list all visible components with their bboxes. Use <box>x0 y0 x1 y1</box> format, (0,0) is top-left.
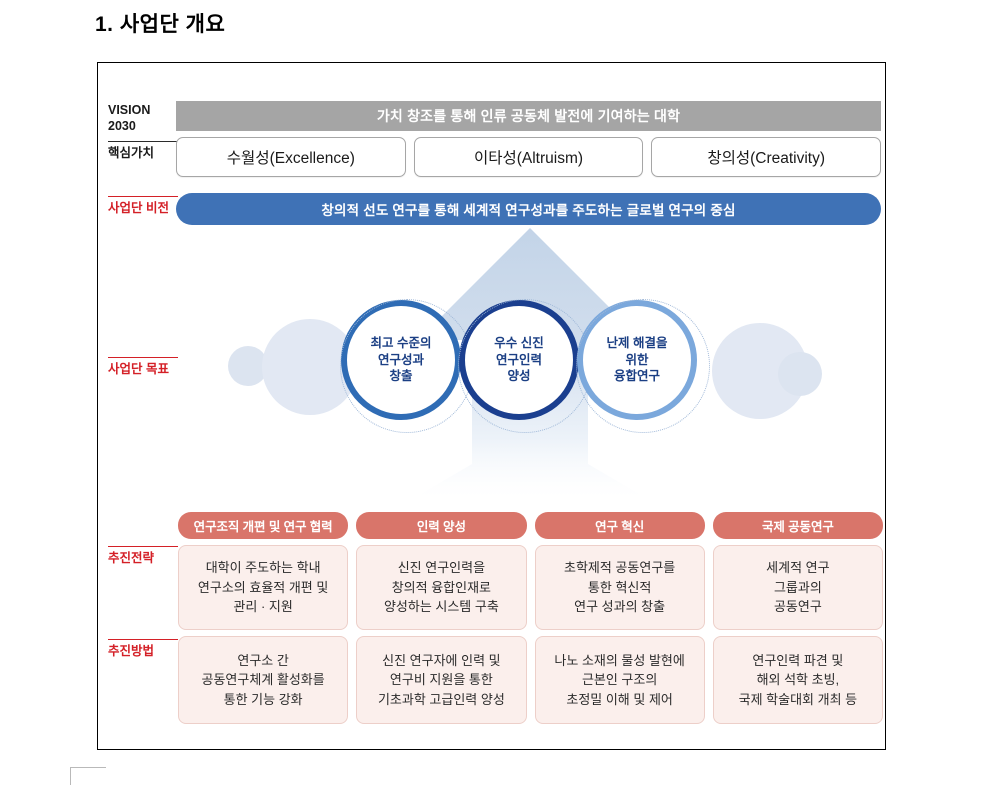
strategy-cell-2-line2: 창의적 융합인재로 <box>392 580 491 595</box>
strategy-header-1: 연구조직 개편 및 연구 협력 <box>178 512 348 539</box>
project-goals-stage: 최고 수준의 연구성과 창출 우수 신진 연구인력 양성 난제 해결을 위한 융… <box>176 226 881 504</box>
core-value-box-3: 창의성(Creativity) <box>651 137 881 177</box>
vision-2030-bar: 가치 창조를 통해 인류 공동체 발전에 기여하는 대학 <box>176 101 881 131</box>
method-cell-1-line2: 공동연구체계 활성화를 <box>202 672 325 687</box>
page-corner-mark <box>70 767 106 785</box>
method-cell-4: 연구인력 파견 및 해외 석학 초빙, 국제 학술대회 개최 등 <box>713 636 883 724</box>
method-cell-2-line3: 기초과학 고급인력 양성 <box>378 692 505 707</box>
label-method: 추진방법 <box>108 639 178 660</box>
strategy-cell-2: 신진 연구인력을 창의적 융합인재로 양성하는 시스템 구축 <box>356 545 526 630</box>
label-vision-2030: VISION 2030 <box>108 103 178 134</box>
goal-2-line3: 양성 <box>507 369 530 383</box>
goal-3-line2: 위한 <box>625 353 648 367</box>
decor-circle-left-small <box>228 346 268 386</box>
strategy-cell-4-line1: 세계적 연구 <box>766 560 829 575</box>
label-vision-2030-line1: VISION <box>108 103 178 119</box>
goal-circle-1: 최고 수준의 연구성과 창출 <box>341 300 461 420</box>
strategy-cell-1-line2: 연구소의 효율적 개편 및 <box>198 580 328 595</box>
strategy-cell-3-line2: 통한 혁신적 <box>588 580 651 595</box>
strategy-cell-4: 세계적 연구 그룹과의 공동연구 <box>713 545 883 630</box>
method-cell-1-line3: 통한 기능 강화 <box>224 692 303 707</box>
method-cell-3-line2: 근본인 구조의 <box>582 672 657 687</box>
strategy-cell-3-line3: 연구 성과의 창출 <box>574 599 665 614</box>
label-project-goals: 사업단 목표 <box>108 357 178 378</box>
strategy-cell-1-line3: 관리 · 지원 <box>233 599 292 614</box>
method-cell-4-line2: 해외 석학 초빙, <box>757 672 840 687</box>
strategy-cell-3-line1: 초학제적 공동연구를 <box>564 560 675 575</box>
label-core-values: 핵심가치 <box>108 141 178 162</box>
method-cell-2-line1: 신진 연구자에 인력 및 <box>382 653 500 668</box>
goal-circle-3: 난제 해결을 위한 융합연구 <box>577 300 697 420</box>
goal-circle-2-text: 우수 신진 연구인력 양성 <box>494 335 543 386</box>
label-vision-2030-line2: 2030 <box>108 119 178 135</box>
core-value-box-2: 이타성(Altruism) <box>414 137 644 177</box>
method-cell-4-line1: 연구인력 파견 및 <box>752 653 843 668</box>
method-cell-4-line3: 국제 학술대회 개최 등 <box>739 692 857 707</box>
core-value-box-1: 수월성(Excellence) <box>176 137 406 177</box>
decor-circle-right-small <box>778 352 822 396</box>
core-values-row: 수월성(Excellence) 이타성(Altruism) 창의성(Creati… <box>176 137 881 177</box>
strategy-cell-2-line1: 신진 연구인력을 <box>398 560 485 575</box>
goal-circle-3-text: 난제 해결을 위한 융합연구 <box>607 335 668 386</box>
method-cell-3-line3: 초정밀 이해 및 제어 <box>566 692 673 707</box>
strategy-header-3: 연구 혁신 <box>535 512 705 539</box>
method-cell-1: 연구소 간 공동연구체계 활성화를 통한 기능 강화 <box>178 636 348 724</box>
method-cell-3: 나노 소재의 물성 발현에 근본인 구조의 초정밀 이해 및 제어 <box>535 636 705 724</box>
method-cell-2-line2: 연구비 지원을 통한 <box>390 672 493 687</box>
strategy-cell-3: 초학제적 공동연구를 통한 혁신적 연구 성과의 창출 <box>535 545 705 630</box>
goal-3-line3: 융합연구 <box>614 369 660 383</box>
goal-3-line1: 난제 해결을 <box>607 336 668 350</box>
goal-circle-2: 우수 신진 연구인력 양성 <box>459 300 579 420</box>
goal-1-line1: 최고 수준의 <box>371 336 432 350</box>
label-project-vision: 사업단 비전 <box>108 196 178 217</box>
method-cell-3-line1: 나노 소재의 물성 발현에 <box>554 653 684 668</box>
strategy-header-4: 국제 공동연구 <box>713 512 883 539</box>
page-title: 1. 사업단 개요 <box>95 8 225 38</box>
method-cells-row: 연구소 간 공동연구체계 활성화를 통한 기능 강화 신진 연구자에 인력 및 … <box>178 636 883 724</box>
label-strategy: 추진전략 <box>108 546 178 567</box>
goal-2-line1: 우수 신진 <box>494 336 543 350</box>
strategy-cell-2-line3: 양성하는 시스템 구축 <box>384 599 499 614</box>
project-vision-pill: 창의적 선도 연구를 통해 세계적 연구성과를 주도하는 글로벌 연구의 중심 <box>176 193 881 225</box>
strategy-cell-4-line2: 그룹과의 <box>774 580 822 595</box>
strategy-cell-1-line1: 대학이 주도하는 학내 <box>206 560 321 575</box>
goal-1-line2: 연구성과 <box>378 353 424 367</box>
strategy-cell-1: 대학이 주도하는 학내 연구소의 효율적 개편 및 관리 · 지원 <box>178 545 348 630</box>
strategy-cell-4-line3: 공동연구 <box>774 599 822 614</box>
strategy-cells-row: 대학이 주도하는 학내 연구소의 효율적 개편 및 관리 · 지원 신진 연구인… <box>178 545 883 630</box>
goal-2-line2: 연구인력 <box>496 353 542 367</box>
strategy-header-row: 연구조직 개편 및 연구 협력 인력 양성 연구 혁신 국제 공동연구 <box>178 512 883 539</box>
goal-circle-1-text: 최고 수준의 연구성과 창출 <box>371 335 432 386</box>
method-cell-1-line1: 연구소 간 <box>237 653 288 668</box>
method-cell-2: 신진 연구자에 인력 및 연구비 지원을 통한 기초과학 고급인력 양성 <box>356 636 526 724</box>
strategy-header-2: 인력 양성 <box>356 512 526 539</box>
goal-1-line3: 창출 <box>389 369 412 383</box>
